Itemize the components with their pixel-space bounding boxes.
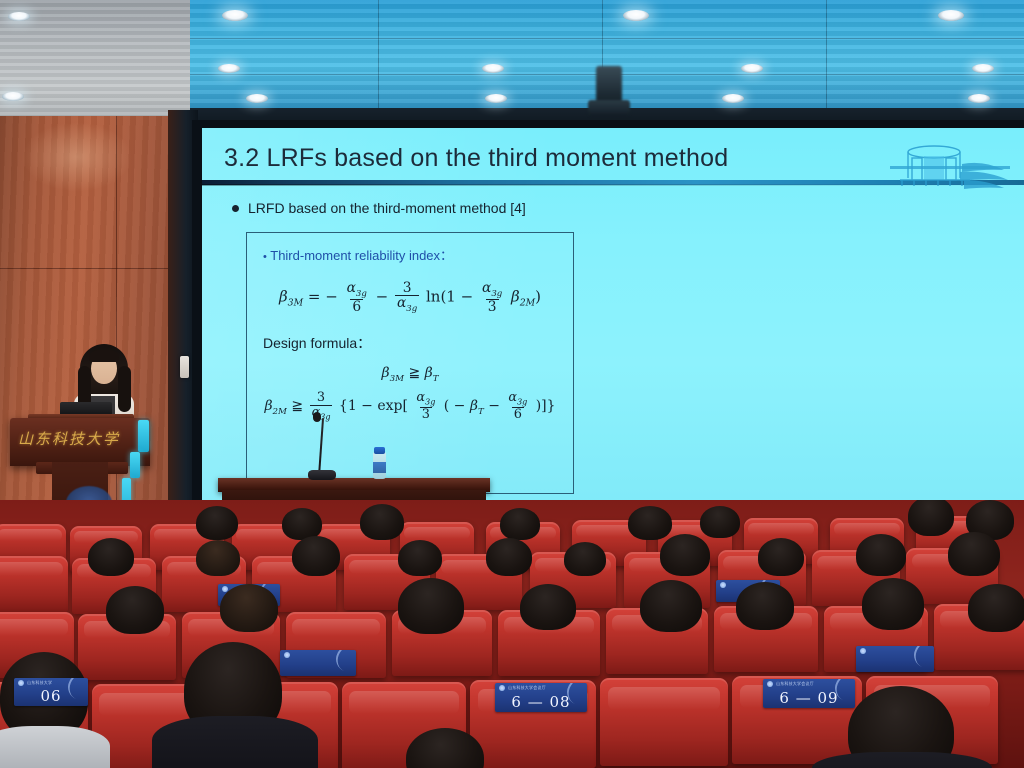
audience-head xyxy=(292,536,340,576)
audience-head xyxy=(398,540,442,576)
design-formula-label: Design formula： xyxy=(263,333,371,353)
water-bottle-label xyxy=(373,462,386,473)
ceiling-downlight-icon xyxy=(972,64,994,73)
microphone-base xyxy=(308,470,336,480)
ceiling-seam xyxy=(190,38,1024,39)
formula-subheading-text: Third-moment reliability index： xyxy=(270,248,453,263)
sub-bullet-icon: • xyxy=(263,251,267,263)
microphone-head-icon xyxy=(313,412,321,422)
water-bottle-cap xyxy=(374,447,385,454)
seat-number-plate xyxy=(280,650,356,676)
plate-logo-icon xyxy=(499,685,505,691)
audience-head xyxy=(908,500,954,536)
seat[interactable] xyxy=(600,678,728,766)
seat-number-plate xyxy=(856,646,934,672)
ceiling-downlight-icon xyxy=(246,94,268,103)
university-building-logo-icon xyxy=(890,140,1010,192)
ceiling-downlight-icon xyxy=(222,10,248,21)
audience-head xyxy=(968,584,1024,632)
speaker-hair-right xyxy=(118,366,131,412)
fraction: 3 α3g xyxy=(395,281,419,314)
bullet-dot-icon xyxy=(232,205,239,212)
audience-head xyxy=(196,540,240,576)
audience-head xyxy=(640,580,702,632)
ceiling-downlight-icon xyxy=(8,12,30,21)
ceiling-downlight-icon xyxy=(623,10,649,21)
plate-logo-icon xyxy=(860,648,866,654)
wall-switch-icon[interactable] xyxy=(180,356,189,378)
formula-box: • Third-moment reliability index： β3M = … xyxy=(246,232,574,494)
ceiling-downlight-icon xyxy=(485,94,507,103)
plate-brand-text: 山东科技大学 xyxy=(27,680,52,686)
audience-head xyxy=(862,578,924,630)
seat[interactable] xyxy=(0,556,68,612)
ceiling-downlight-icon xyxy=(482,64,504,73)
plate-logo-icon xyxy=(767,681,773,687)
plate-logo-icon xyxy=(284,652,290,658)
projector-body xyxy=(588,100,630,116)
equation-third-moment-index: β3M = − α3g 6 − 3 α3g ln(1 − α3g 3 β2M) xyxy=(247,281,573,314)
audience-head xyxy=(948,532,1000,576)
audience-head xyxy=(360,504,404,540)
formula-subheading: • Third-moment reliability index： xyxy=(263,245,453,264)
ceiling-seam xyxy=(826,0,827,112)
audience-head xyxy=(628,506,672,540)
ceiling-seam xyxy=(378,0,379,112)
podium-accent-light xyxy=(138,420,149,452)
speaker-fringe xyxy=(89,350,119,362)
equation-beta2m-bound: β2M ≧ 3 α3g {1 − exp[ α3g 3 ( − βT − α3g… xyxy=(247,391,573,421)
audience-head xyxy=(736,582,794,630)
ceiling-downlight-icon xyxy=(741,64,763,73)
ceiling-downlight-icon xyxy=(722,94,744,103)
wall-seam xyxy=(0,268,196,269)
audience-head xyxy=(220,584,278,632)
seat-number: 6 — 09 xyxy=(763,689,855,707)
audience-shoulders xyxy=(0,726,110,768)
slide-title: 3.2 LRFs based on the third moment metho… xyxy=(224,144,728,173)
seat-plate-6-09: 山东科技大学会议厅 6 — 09 xyxy=(763,679,855,708)
ceiling-downlight-icon xyxy=(218,64,240,73)
seat-plate-06: 山东科技大学 06 xyxy=(14,678,88,706)
audience-head xyxy=(856,534,906,576)
audience-head xyxy=(660,534,710,576)
fraction: α3g 3 xyxy=(480,281,504,314)
ceiling-panel-left xyxy=(0,0,196,124)
equation-design-constraint: β3M ≧ βT xyxy=(247,365,573,384)
slide-bullet-text: LRFD based on the third-moment method [4… xyxy=(248,200,526,216)
audience-head xyxy=(564,542,606,576)
ceiling-downlight-icon xyxy=(2,92,24,101)
fraction: α3g 6 xyxy=(345,281,369,314)
audience-head xyxy=(486,538,532,576)
slide-bullet-item: LRFD based on the third-moment method [4… xyxy=(232,200,526,216)
plate-brand-text: 山东科技大学会议厅 xyxy=(508,685,546,691)
plate-logo-icon xyxy=(18,680,24,686)
ceiling-downlight-icon xyxy=(968,94,990,103)
seat-number: 06 xyxy=(14,687,88,705)
presentation-slide: 3.2 LRFs based on the third moment metho… xyxy=(202,128,1024,520)
audience-head xyxy=(88,538,134,576)
audience-head xyxy=(500,508,540,540)
seat-number: 6 — 08 xyxy=(495,693,587,711)
podium-accent-light xyxy=(130,452,140,478)
presentation-room-photo: 3.2 LRFs based on the third moment metho… xyxy=(0,0,1024,768)
seat-plate-6-08: 山东科技大学会议厅 6 — 08 xyxy=(495,683,587,712)
wall-light-reflection xyxy=(22,122,132,192)
plate-brand-text: 山东科技大学会议厅 xyxy=(776,681,814,687)
audience-seating-area xyxy=(0,500,1024,768)
audience-head xyxy=(758,538,804,576)
podium-university-name: 山东科技大学 xyxy=(18,428,138,454)
audience-shoulders xyxy=(152,716,318,768)
audience-head xyxy=(520,584,576,630)
plate-swoosh-icon xyxy=(910,646,934,672)
audience-head xyxy=(196,506,238,540)
ceiling-downlight-icon xyxy=(938,10,964,21)
plate-logo-icon xyxy=(720,582,726,588)
audience-head xyxy=(700,506,740,538)
plate-swoosh-icon xyxy=(332,650,356,676)
fraction: α3g 3 xyxy=(414,391,437,421)
audience-head xyxy=(398,578,464,634)
fraction: α3g 6 xyxy=(506,391,529,421)
audience-head xyxy=(106,586,164,634)
